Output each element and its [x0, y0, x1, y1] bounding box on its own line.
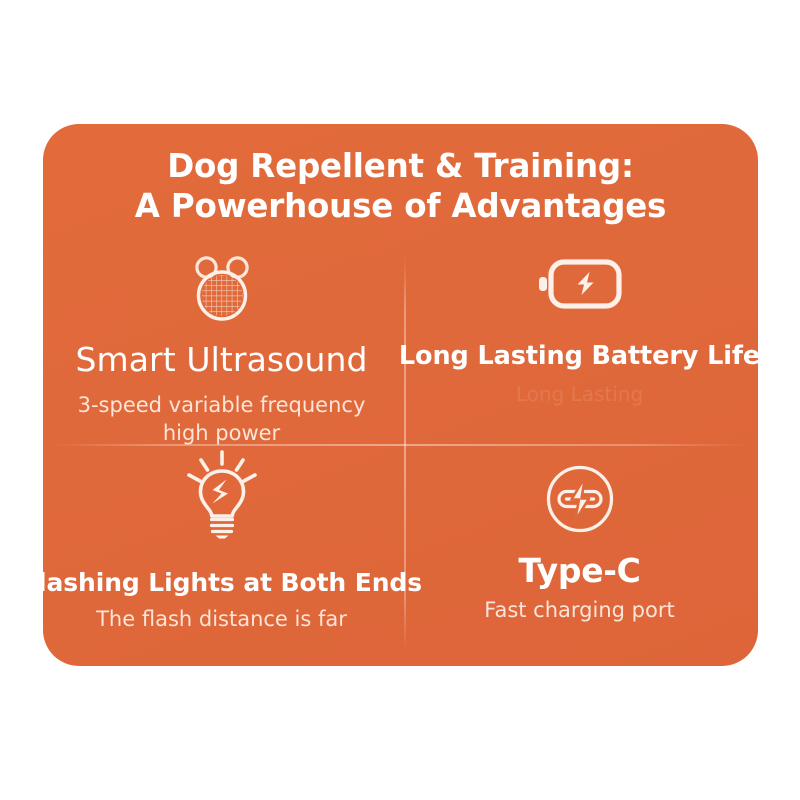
page-title: Dog Repellent & Training: A Powerhouse o… — [43, 146, 758, 226]
feature-card: Dog Repellent & Training: A Powerhouse o… — [43, 124, 758, 666]
usb-type-c-fast-charge-icon — [544, 463, 616, 535]
feature-battery-title: Long Lasting Battery Life — [399, 341, 758, 371]
battery-charging-icon — [537, 258, 623, 310]
page-title-line-1: Dog Repellent & Training: — [43, 146, 758, 186]
ultrasonic-speaker-icon — [185, 254, 259, 324]
feature-ultrasound: Smart Ultrasound 3-speed variable freque… — [43, 252, 400, 447]
infographic-root: Dog Repellent & Training: A Powerhouse o… — [0, 0, 800, 800]
feature-flashing-subtitle: The flash distance is far — [96, 605, 347, 633]
feature-typec-subtitle: Fast charging port — [484, 596, 674, 624]
feature-battery-subtitle: Long Lasting — [516, 381, 643, 407]
feature-ultrasound-subtitle: 3-speed variable frequency high power — [57, 391, 387, 447]
feature-flashing: Flashing Lights at Both Ends The flash d… — [43, 449, 400, 633]
page-title-line-2: A Powerhouse of Advantages — [43, 186, 758, 226]
feature-typec: Type-C Fast charging port — [401, 449, 758, 624]
lightbulb-flash-icon — [179, 449, 265, 541]
feature-ultrasound-title: Smart Ultrasound — [75, 340, 367, 379]
feature-typec-title: Type-C — [518, 551, 640, 590]
feature-battery: Long Lasting Battery Life Long Lasting — [401, 252, 758, 407]
feature-flashing-title: Flashing Lights at Both Ends — [43, 568, 422, 597]
